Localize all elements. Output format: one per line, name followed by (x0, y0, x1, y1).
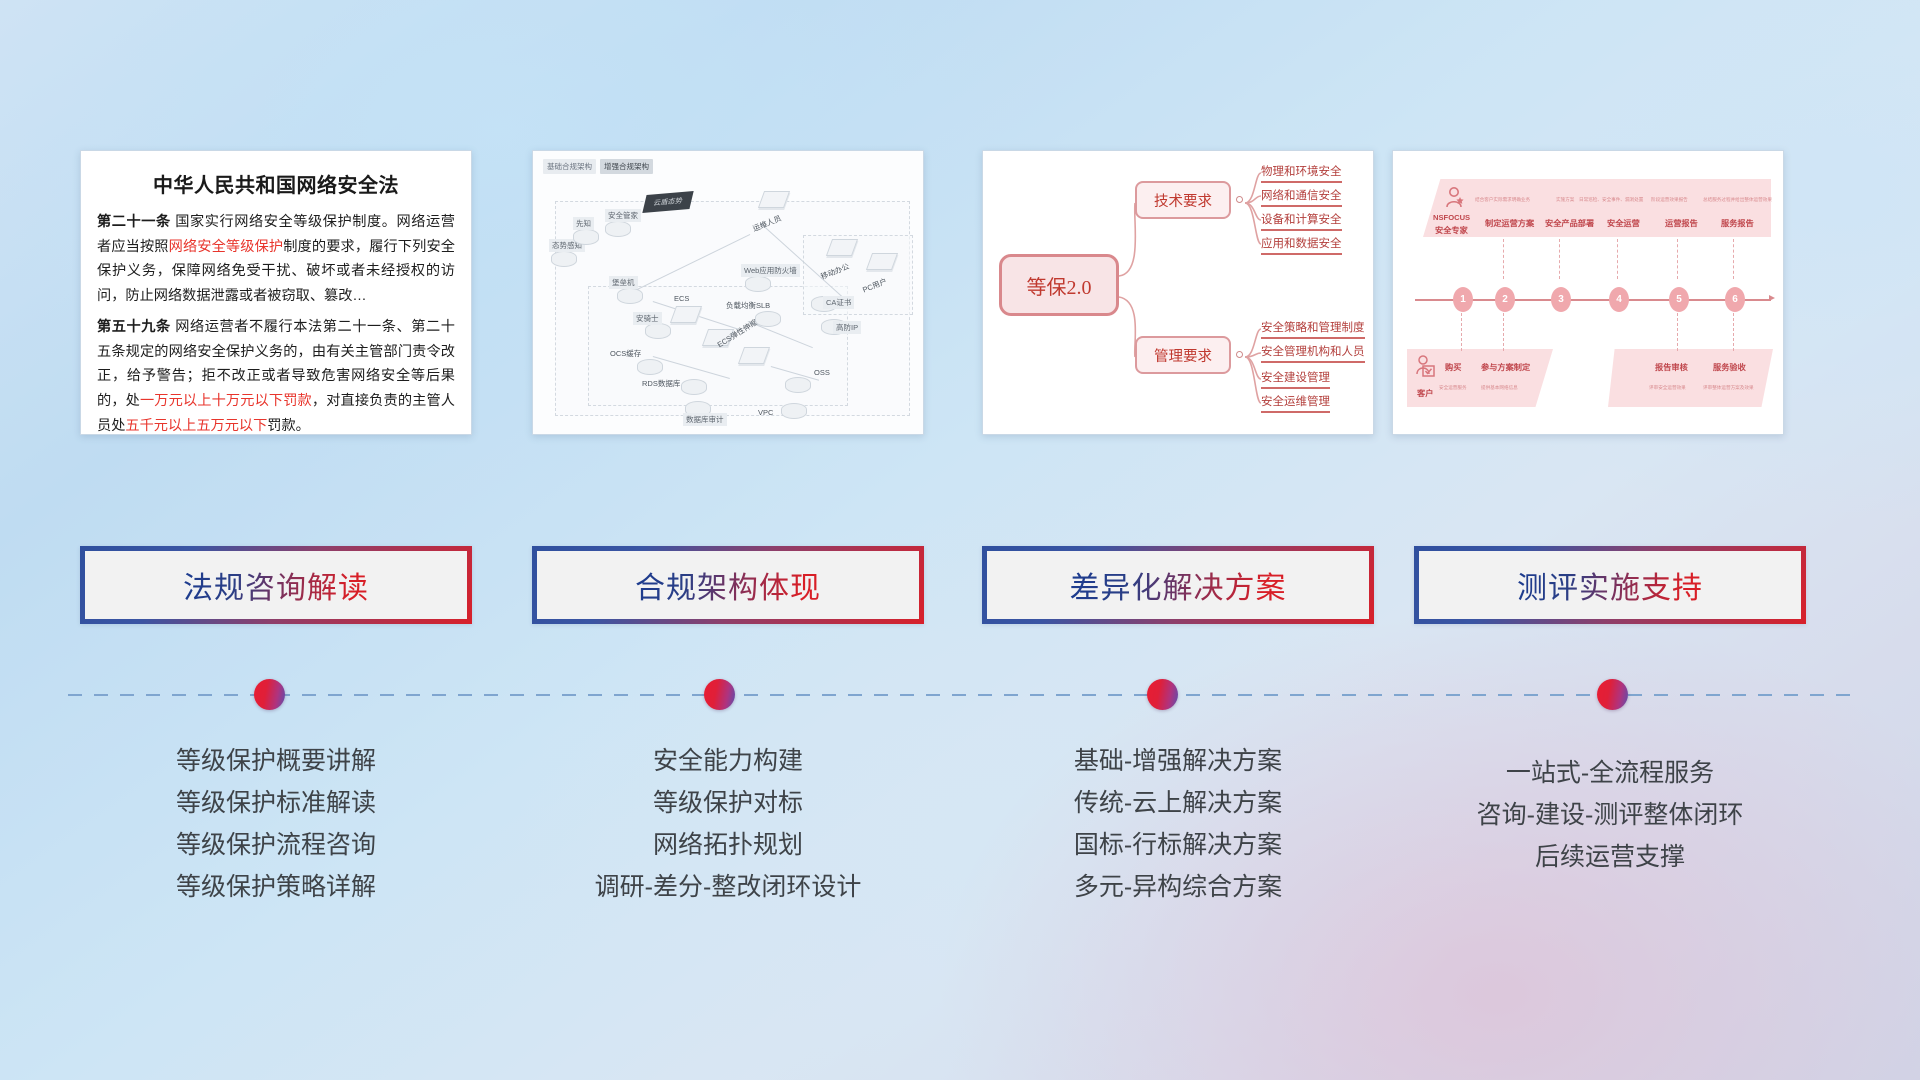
arch-node[interactable]: ECS弹性伸缩组 (741, 347, 767, 364)
arch-node[interactable]: VPC (781, 403, 807, 419)
list-item: 后续运营支撑 (1414, 836, 1806, 878)
timeline-dashed-line (68, 694, 1858, 696)
mindmap-leaf[interactable]: 安全运维管理 (1261, 393, 1330, 413)
nsfocus-tick (1559, 239, 1560, 279)
timeline-marker-1[interactable] (254, 679, 285, 710)
law-article-number: 第五十九条 (97, 319, 171, 335)
nsfocus-timeline-card[interactable]: NSFOCUS 安全专家 结合客户实际需求明确业务 制定运营方案 实施方案 安全… (1392, 150, 1784, 435)
service-list-regulation: 等级保护概要讲解 等级保护标准解读 等级保护流程咨询 等级保护策略详解 (80, 740, 472, 908)
nsfocus-axis-arrow-icon (1769, 295, 1775, 301)
arch-node[interactable]: 负载均衡SLB (755, 311, 781, 327)
list-item: 传统-云上解决方案 (982, 782, 1374, 824)
list-item: 等级保护对标 (532, 782, 924, 824)
mindmap-branch-management[interactable]: 管理要求 (1135, 336, 1231, 374)
nsfocus-top-step-sub: 结合客户实际需求明确业务 (1475, 197, 1530, 203)
list-item: 等级保护策略详解 (80, 866, 472, 908)
law-paragraph: 第五十九条 网络运营者不履行本法第二十一条、第二十五条规定的网络安全保护义务的，… (97, 315, 455, 435)
nsfocus-step-node[interactable]: 1 (1453, 287, 1473, 312)
mindmap-leaf[interactable]: 安全策略和管理制度 (1261, 319, 1365, 339)
law-text-segment-highlight: 五千元以上五万元以下 (125, 418, 267, 434)
list-item: 调研-差分-整改闭环设计 (532, 866, 924, 908)
mindmap-reference-card[interactable]: 等保2.0 技术要求 物理和环境安全 网络和通信安全 设备和计算安全 应用和数据… (982, 150, 1374, 435)
nsfocus-expert-label-line1: NSFOCUS (1433, 213, 1470, 222)
nsfocus-bottom-step-sub: 提供基本网络信息 (1481, 385, 1518, 391)
arch-tab-basic[interactable]: 基础合规架构 (543, 159, 596, 174)
mindmap-leaf[interactable]: 安全管理机构和人员 (1261, 343, 1365, 363)
nsfocus-bottom-step-main: 报告审核 (1655, 361, 1688, 373)
cloud-architecture-diagram: 基础合规架构 增强合规架构 云盾态势 态势感知 先知 安全管家 堡垒机 (533, 151, 923, 434)
category-button-regulation-consulting[interactable]: 法规咨询解读 (80, 546, 472, 624)
arch-tab-enhanced[interactable]: 增强合规架构 (600, 159, 653, 174)
list-item: 多元-异构综合方案 (982, 866, 1374, 908)
list-item: 咨询-建设-测评整体闭环 (1414, 794, 1806, 836)
mindmap-leaf[interactable]: 应用和数据安全 (1261, 235, 1342, 255)
law-text-segment: 罚款。 (267, 418, 310, 434)
arch-node[interactable]: 堡垒机 (617, 288, 643, 304)
arch-node[interactable]: 安骑士 (645, 323, 671, 339)
arch-node[interactable]: Web应用防火墙 (745, 276, 771, 292)
mindmap-collapse-icon[interactable] (1236, 196, 1243, 203)
list-item: 基础-增强解决方案 (982, 740, 1374, 782)
nsfocus-top-step-sub: 实施方案 (1556, 197, 1574, 203)
mindmap-collapse-icon[interactable] (1236, 351, 1243, 358)
nsfocus-service-flow: NSFOCUS 安全专家 结合客户实际需求明确业务 制定运营方案 实施方案 安全… (1393, 151, 1783, 434)
arch-node[interactable]: OCS缓存 (637, 359, 663, 375)
nsfocus-bottom-step-sub: 评审安全运营效果 (1649, 385, 1686, 391)
timeline-marker-4[interactable] (1597, 679, 1628, 710)
list-item: 等级保护标准解读 (80, 782, 472, 824)
nsfocus-tick (1503, 313, 1504, 351)
nsfocus-tick (1677, 239, 1678, 279)
list-item: 一站式-全流程服务 (1414, 752, 1806, 794)
nsfocus-expert-label-line2: 安全专家 (1435, 224, 1468, 236)
nsfocus-tick (1677, 313, 1678, 351)
nsfocus-tick (1733, 239, 1734, 279)
arch-node[interactable]: 数据库审计 (685, 401, 711, 417)
category-button-differentiated-solution[interactable]: 差异化解决方案 (982, 546, 1374, 624)
nsfocus-step-node[interactable]: 2 (1495, 287, 1515, 312)
nsfocus-top-step-sub: 日常巡检、安全事件、漏洞处置 (1579, 197, 1643, 203)
nsfocus-customer-label: 客户 (1417, 387, 1433, 399)
nsfocus-tick (1617, 239, 1618, 279)
law-text-segment-highlight: 一万元以上十万元以下罚款 (140, 393, 312, 409)
nsfocus-bottom-step-main: 参与方案制定 (1481, 361, 1530, 373)
arch-node[interactable]: 先知 (573, 229, 599, 245)
service-list-solution: 基础-增强解决方案 传统-云上解决方案 国标-行标解决方案 多元-异构综合方案 (982, 740, 1374, 908)
architecture-tab-strip[interactable]: 基础合规架构 增强合规架构 (543, 159, 653, 174)
list-item: 等级保护流程咨询 (80, 824, 472, 866)
arch-node[interactable]: PC用户 (869, 253, 895, 270)
nsfocus-step-node[interactable]: 5 (1669, 287, 1689, 312)
dengbao-mindmap: 等保2.0 技术要求 物理和环境安全 网络和通信安全 设备和计算安全 应用和数据… (983, 151, 1373, 434)
nsfocus-top-step-main: 安全产品部署 (1545, 217, 1594, 229)
law-card-body: 第二十一条 国家实行网络安全等级保护制度。网络运营者应当按照网络安全等级保护制度… (81, 210, 471, 435)
nsfocus-customer-band-right (1608, 349, 1773, 407)
mindmap-leaf[interactable]: 物理和环境安全 (1261, 163, 1342, 183)
law-card-title: 中华人民共和国网络安全法 (81, 169, 471, 198)
nsfocus-top-step-sub: 阶段运营效果报告 (1651, 197, 1688, 203)
nsfocus-expert-band (1423, 179, 1771, 237)
security-expert-icon (1441, 185, 1467, 211)
timeline-marker-2[interactable] (704, 679, 735, 710)
mindmap-leaf[interactable]: 安全建设管理 (1261, 369, 1330, 389)
nsfocus-tick (1461, 313, 1462, 351)
arch-node[interactable]: 运维人员 (761, 191, 787, 208)
nsfocus-bottom-step-main: 服务验收 (1713, 361, 1746, 373)
arch-node[interactable]: 态势感知 (551, 251, 577, 267)
arch-node[interactable]: ECS (673, 306, 699, 323)
service-list-assessment: 一站式-全流程服务 咨询-建设-测评整体闭环 后续运营支撑 (1414, 752, 1806, 878)
list-item: 安全能力构建 (532, 740, 924, 782)
service-list-architecture: 安全能力构建 等级保护对标 网络拓扑规划 调研-差分-整改闭环设计 (532, 740, 924, 908)
nsfocus-step-node[interactable]: 4 (1609, 287, 1629, 312)
nsfocus-bottom-step-main: 购买 (1445, 361, 1461, 373)
list-item: 网络拓扑规划 (532, 824, 924, 866)
nsfocus-bottom-step-sub: 安全运营服务 (1439, 385, 1467, 391)
nsfocus-step-node[interactable]: 3 (1551, 287, 1571, 312)
category-button-compliance-architecture[interactable]: 合规架构体现 (532, 546, 924, 624)
category-button-label: 合规架构体现 (635, 563, 821, 607)
law-reference-card[interactable]: 中华人民共和国网络安全法 第二十一条 国家实行网络安全等级保护制度。网络运营者应… (80, 150, 472, 435)
nsfocus-tick (1503, 239, 1504, 279)
nsfocus-top-step-main: 服务报告 (1721, 217, 1754, 229)
mindmap-root-node[interactable]: 等保2.0 (999, 254, 1119, 316)
arch-node[interactable]: CA证书 (811, 296, 837, 312)
arch-node[interactable]: 移动办公 (829, 239, 855, 256)
mindmap-branch-technical[interactable]: 技术要求 (1135, 181, 1231, 219)
nsfocus-top-step-sub: 总结服务过程并给出整体运营效果 (1703, 197, 1772, 203)
category-button-label: 差异化解决方案 (1070, 563, 1287, 607)
customer-icon (1415, 354, 1437, 382)
nsfocus-top-step-main: 安全运营 (1607, 217, 1640, 229)
law-paragraph: 第二十一条 国家实行网络安全等级保护制度。网络运营者应当按照网络安全等级保护制度… (97, 210, 455, 308)
category-button-assessment-support[interactable]: 测评实施支持 (1414, 546, 1806, 624)
nsfocus-top-step-main: 制定运营方案 (1485, 217, 1534, 229)
arch-node[interactable]: 安全管家 (605, 221, 631, 237)
mindmap-leaf[interactable]: 设备和计算安全 (1261, 211, 1342, 231)
category-button-label: 测评实施支持 (1517, 563, 1703, 607)
nsfocus-top-step-main: 运营报告 (1665, 217, 1698, 229)
architecture-reference-card[interactable]: 基础合规架构 增强合规架构 云盾态势 态势感知 先知 安全管家 堡垒机 (532, 150, 924, 435)
slide-canvas: 中华人民共和国网络安全法 第二十一条 国家实行网络安全等级保护制度。网络运营者应… (0, 0, 1920, 1080)
arch-node[interactable]: RDS数据库 (681, 379, 707, 395)
mindmap-leaf[interactable]: 网络和通信安全 (1261, 187, 1342, 207)
nsfocus-tick (1733, 313, 1734, 351)
list-item: 等级保护概要讲解 (80, 740, 472, 782)
arch-node[interactable]: 高防IP (821, 319, 847, 335)
nsfocus-step-node[interactable]: 6 (1725, 287, 1745, 312)
law-text-segment-highlight: 网络安全等级保护 (169, 239, 284, 255)
law-article-number: 第二十一条 (97, 214, 171, 230)
arch-node[interactable]: OSS (785, 377, 811, 393)
nsfocus-bottom-step-sub: 评审整体运营方案及效果 (1703, 385, 1754, 391)
category-button-label: 法规咨询解读 (183, 563, 369, 607)
list-item: 国标-行标解决方案 (982, 824, 1374, 866)
timeline-marker-3[interactable] (1147, 679, 1178, 710)
reference-card-row: 中华人民共和国网络安全法 第二十一条 国家实行网络安全等级保护制度。网络运营者应… (0, 150, 1920, 440)
